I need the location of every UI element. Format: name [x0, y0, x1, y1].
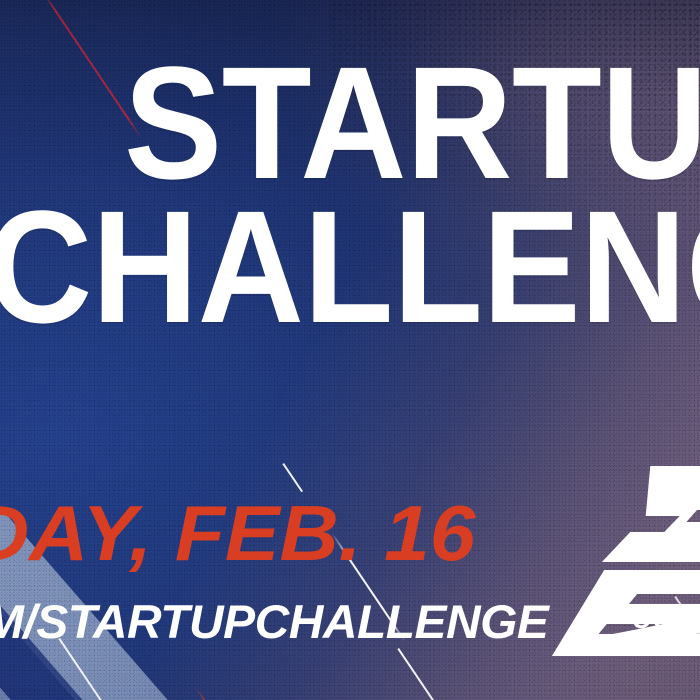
event-date: DAY, FEB. 16: [0, 488, 475, 579]
event-url: M/STARTUPCHALLENGE: [0, 594, 548, 649]
headline-line-1: STARTU: [124, 54, 700, 192]
promo-banner: STARTU CHALLENG DAY, FEB. 16 M/STARTUPCH…: [0, 0, 700, 700]
brand-logo-tagline: CO: [632, 604, 675, 635]
headline: STARTU CHALLENG: [124, 54, 700, 335]
headline-line-2: CHALLENG: [0, 198, 700, 336]
